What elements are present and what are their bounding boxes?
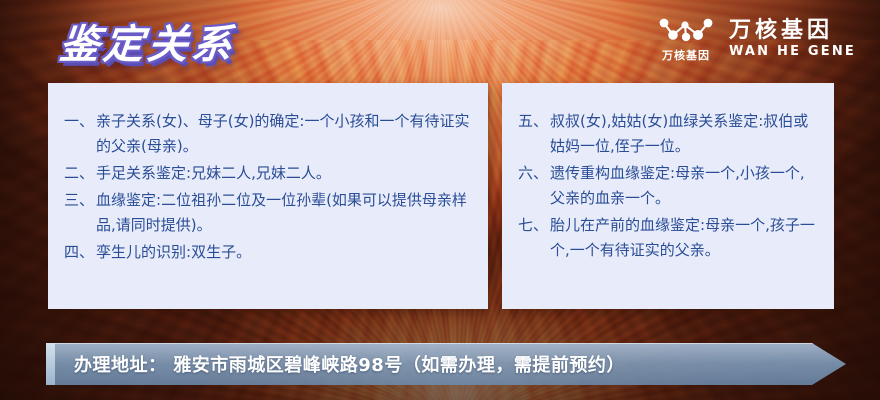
address-ribbon-cap: [46, 343, 55, 385]
panel-left: 一、 亲子关系(女)、母子(女)的确定:一个小孩和一个有待证实的父亲(母亲)。 …: [48, 83, 488, 309]
address-ribbon: 办理地址： 雅安市雨城区碧峰峡路98号（如需办理，需提前预约）: [46, 343, 846, 385]
list-item-number: 六、: [518, 161, 550, 186]
list-item-text: 手足关系鉴定:兄妹二人,兄妹二人。: [96, 161, 472, 186]
list-item-number: 三、: [64, 188, 96, 213]
list-item-text: 亲子关系(女)、母子(女)的确定:一个小孩和一个有待证实的父亲(母亲)。: [96, 109, 472, 159]
content-panels: 一、 亲子关系(女)、母子(女)的确定:一个小孩和一个有待证实的父亲(母亲)。 …: [0, 83, 880, 313]
list-item: 五、 叔叔(女),姑姑(女)血绿关系鉴定:叔伯或姑妈一位,侄子一位。: [518, 109, 818, 159]
brand-mark: 万核基因: [657, 16, 715, 63]
address-text: 办理地址： 雅安市雨城区碧峰峡路98号（如需办理，需提前预约）: [74, 343, 625, 385]
list-item-number: 二、: [64, 161, 96, 186]
brand-mark-label: 万核基因: [662, 47, 710, 63]
list-item: 四、 孪生儿的识别:双生子。: [64, 240, 472, 265]
list-item-number: 一、: [64, 109, 96, 134]
list-item-number: 五、: [518, 109, 550, 134]
panel-right: 五、 叔叔(女),姑姑(女)血绿关系鉴定:叔伯或姑妈一位,侄子一位。 六、 遗传…: [502, 83, 834, 309]
panel-left-list: 一、 亲子关系(女)、母子(女)的确定:一个小孩和一个有待证实的父亲(母亲)。 …: [48, 83, 488, 265]
brand-name-cn: 万核基因: [729, 19, 856, 43]
list-item: 七、 胎儿在产前的血缘鉴定:母亲一个,孩子一个,一个有待证实的父亲。: [518, 213, 818, 263]
list-item-text: 遗传重构血缘鉴定:母亲一个,小孩一个,父亲的血亲一个。: [550, 161, 818, 211]
slide-root: 鉴定关系: [0, 0, 880, 400]
page-title: 鉴定关系: [57, 12, 239, 70]
list-item: 六、 遗传重构血缘鉴定:母亲一个,小孩一个,父亲的血亲一个。: [518, 161, 818, 211]
brand-name-en: WAN HE GENE: [729, 45, 856, 59]
list-item-number: 七、: [518, 213, 550, 238]
list-item-text: 胎儿在产前的血缘鉴定:母亲一个,孩子一个,一个有待证实的父亲。: [550, 213, 818, 263]
molecule-network-icon: [657, 16, 715, 44]
panel-right-list: 五、 叔叔(女),姑姑(女)血绿关系鉴定:叔伯或姑妈一位,侄子一位。 六、 遗传…: [502, 83, 834, 263]
list-item-text: 孪生儿的识别:双生子。: [96, 240, 472, 265]
list-item-text: 血缘鉴定:二位祖孙二位及一位孙辈(如果可以提供母亲样品,请同时提供)。: [96, 188, 472, 238]
brand-logo: 万核基因 万核基因 WAN HE GENE: [657, 16, 856, 63]
list-item: 三、 血缘鉴定:二位祖孙二位及一位孙辈(如果可以提供母亲样品,请同时提供)。: [64, 188, 472, 238]
header: 鉴定关系: [0, 0, 880, 80]
list-item: 一、 亲子关系(女)、母子(女)的确定:一个小孩和一个有待证实的父亲(母亲)。: [64, 109, 472, 159]
brand-wordmark: 万核基因 WAN HE GENE: [729, 19, 856, 59]
list-item-number: 四、: [64, 240, 96, 265]
list-item-text: 叔叔(女),姑姑(女)血绿关系鉴定:叔伯或姑妈一位,侄子一位。: [550, 109, 818, 159]
list-item: 二、 手足关系鉴定:兄妹二人,兄妹二人。: [64, 161, 472, 186]
